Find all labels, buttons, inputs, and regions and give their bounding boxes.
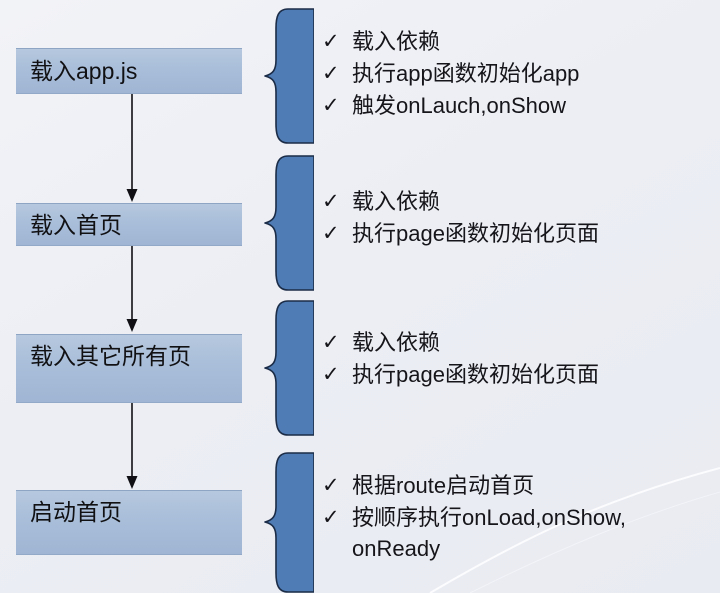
bullet-item: ✓ 触发onLauch,onShow xyxy=(322,90,714,121)
checkmark-icon: ✓ xyxy=(322,470,352,501)
arrow-connector-2-to-3 xyxy=(124,246,140,334)
bullet-item: ✓ 执行app函数初始化app xyxy=(322,58,714,89)
checkmark-icon: ✓ xyxy=(322,186,352,217)
bullet-text: 载入依赖 xyxy=(352,26,440,57)
flow-step-label-4: 启动首页 xyxy=(30,497,122,527)
bullet-text: 载入依赖 xyxy=(352,186,440,217)
arrow-connector-1-to-2 xyxy=(124,94,140,204)
flow-step-box-1[interactable]: 载入app.js xyxy=(16,48,242,94)
flow-step-label-3: 载入其它所有页 xyxy=(30,341,191,371)
bullet-item: ✓ 根据route启动首页 xyxy=(322,470,714,501)
bullet-text: 触发onLauch,onShow xyxy=(352,90,566,121)
curly-brace-icon-1 xyxy=(264,8,314,144)
bullet-item: ✓ 执行page函数初始化页面 xyxy=(322,218,714,249)
flow-step-box-3[interactable]: 载入其它所有页 xyxy=(16,334,242,403)
bullet-text: 载入依赖 xyxy=(352,327,440,358)
bullet-group-2: ✓ 载入依赖 ✓ 执行page函数初始化页面 xyxy=(322,186,714,250)
bullet-text: 根据route启动首页 xyxy=(352,470,534,501)
bullet-group-3: ✓ 载入依赖 ✓ 执行page函数初始化页面 xyxy=(322,327,714,391)
bullet-text: 执行page函数初始化页面 xyxy=(352,359,599,390)
checkmark-icon: ✓ xyxy=(322,218,352,249)
bullet-text: 执行page函数初始化页面 xyxy=(352,218,599,249)
bullet-item: ✓ 载入依赖 xyxy=(322,26,714,57)
checkmark-icon: ✓ xyxy=(322,26,352,57)
arrow-connector-3-to-4 xyxy=(124,403,140,491)
bullet-item: ✓ 载入依赖 xyxy=(322,327,714,358)
bullet-text: 执行app函数初始化app xyxy=(352,58,579,89)
curly-brace-icon-4 xyxy=(264,452,314,593)
bullet-item: ✓ 执行page函数初始化页面 xyxy=(322,359,714,390)
checkmark-icon: ✓ xyxy=(322,502,352,533)
diagram-canvas: 载入app.js 载入首页 载入其它所有页 启动首页 xyxy=(0,0,720,593)
curly-brace-icon-3 xyxy=(264,300,314,436)
checkmark-icon: ✓ xyxy=(322,359,352,390)
curly-brace-icon-2 xyxy=(264,155,314,291)
bullet-item: ✓ 载入依赖 xyxy=(322,186,714,217)
checkmark-icon: ✓ xyxy=(322,58,352,89)
bullet-text: 按顺序执行onLoad,onShow, onReady xyxy=(352,502,626,564)
flow-step-box-2[interactable]: 载入首页 xyxy=(16,203,242,246)
flow-step-label-2: 载入首页 xyxy=(30,210,122,240)
flow-step-label-1: 载入app.js xyxy=(30,56,137,86)
bullet-group-1: ✓ 载入依赖 ✓ 执行app函数初始化app ✓ 触发onLauch,onSho… xyxy=(322,26,714,122)
checkmark-icon: ✓ xyxy=(322,327,352,358)
checkmark-icon: ✓ xyxy=(322,90,352,121)
bullet-item: ✓ 按顺序执行onLoad,onShow, onReady xyxy=(322,502,714,564)
bullet-group-4: ✓ 根据route启动首页 ✓ 按顺序执行onLoad,onShow, onRe… xyxy=(322,470,714,565)
flow-step-box-4[interactable]: 启动首页 xyxy=(16,490,242,555)
